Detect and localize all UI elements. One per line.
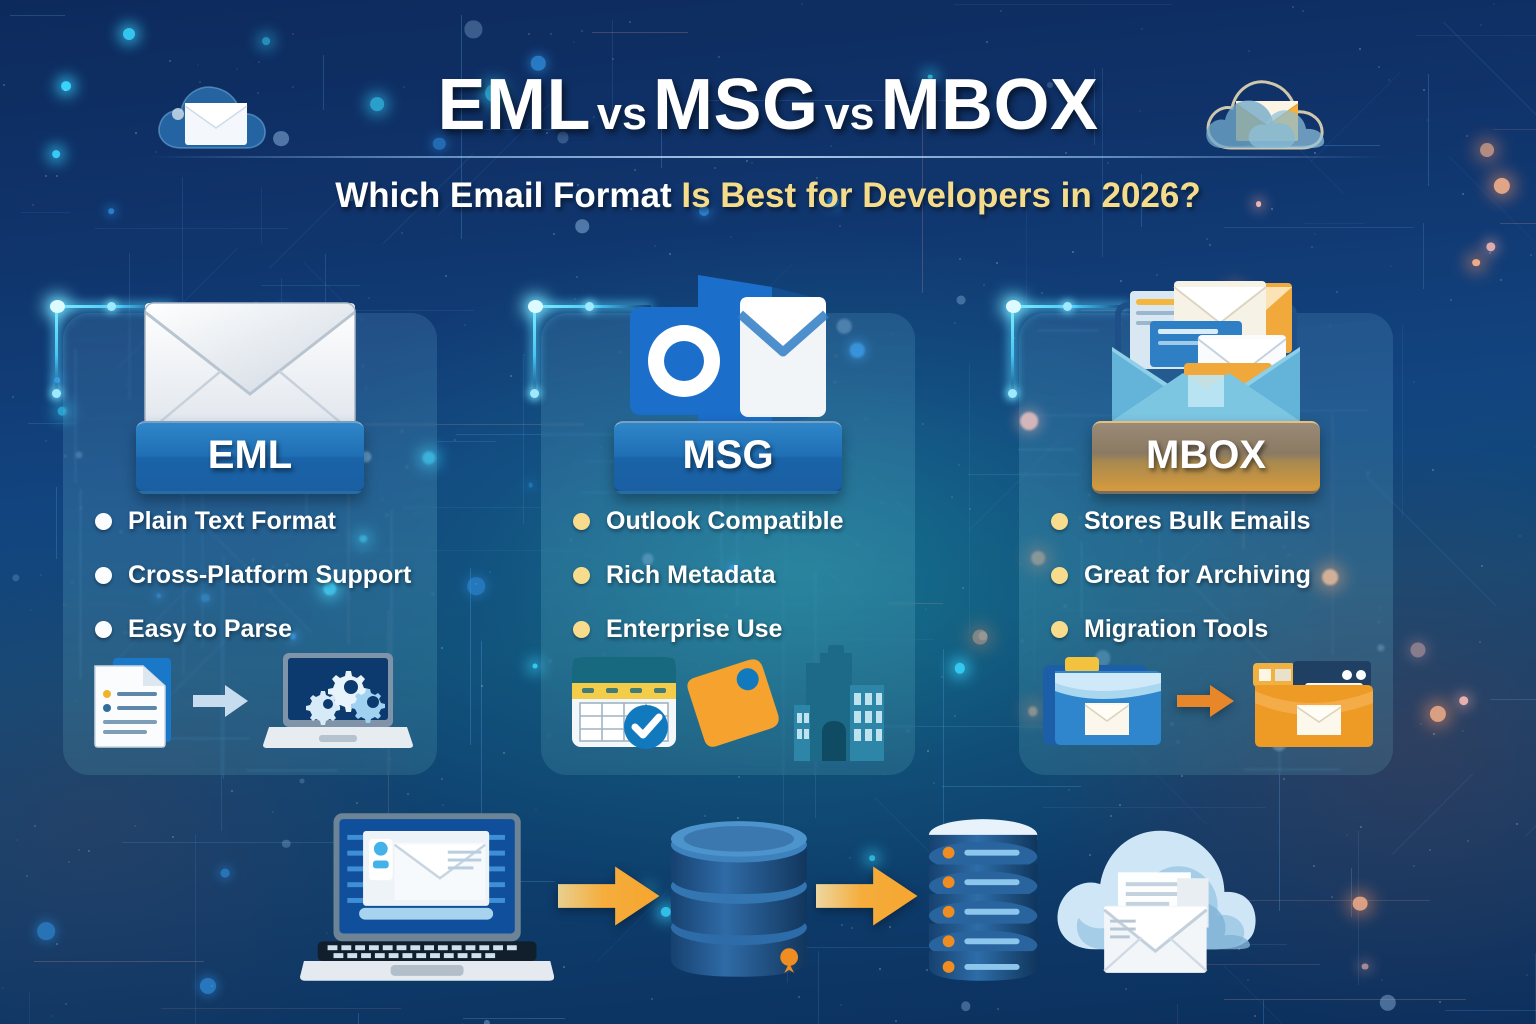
card-art-eml [63,265,437,445]
list-item: Plain Text Format [95,495,419,548]
subtitle-highlight-part: Is Best for Developers in 2026? [681,176,1200,215]
bullet-dot-icon [573,513,590,530]
mailbox-stack-icon [1088,269,1324,445]
arrow-right-orange-icon [558,864,660,928]
feature-label: Rich Metadata [606,561,775,590]
feature-label: Outlook Compatible [606,507,844,536]
card-art-msg [541,265,915,445]
blue-folder-mail-icon [1039,651,1163,751]
server-stack-icon [923,810,1043,982]
orange-folder-mail-icon [1249,651,1373,751]
format-card-mbox[interactable]: MBOX Stores Bulk Emails Great for Archiv… [1019,313,1393,775]
badge-eml: EML [136,421,364,494]
list-item: Rich Metadata [573,549,897,602]
outlook-logo-icon [622,267,834,445]
feature-list-msg: Outlook Compatible Rich Metadata Enterpr… [573,495,897,657]
bullet-dot-icon [95,567,112,584]
badge-msg: MSG [614,421,842,494]
feature-label: Easy to Parse [128,615,292,644]
cloud-envelope-icon [1047,808,1260,984]
title-msg: MSG [653,65,819,145]
list-item: Great for Archiving [1051,549,1375,602]
feature-label: Enterprise Use [606,615,782,644]
database-cylinder-icon [665,808,813,984]
format-card-eml[interactable]: EML Plain Text Format Cross-Platform Sup… [63,313,437,775]
arrow-right-orange-icon [816,864,918,928]
arrow-right-orange-icon [1177,684,1235,718]
laptop-email-icon [300,808,554,984]
office-building-icon [794,639,890,763]
calendar-check-icon [566,649,684,753]
feature-label: Stores Bulk Emails [1084,507,1310,536]
title-mbox: MBOX [881,65,1099,145]
title-vs-2: vs [819,88,881,139]
bullet-dot-icon [95,621,112,638]
cloud-email-orange-icon [1196,56,1336,168]
arrow-right-icon [193,684,249,718]
card-art-mbox [1019,265,1393,445]
card-footer-icons-eml [63,641,437,761]
list-item: Stores Bulk Emails [1051,495,1375,548]
document-icon [87,652,179,750]
badge-mbox: MBOX [1092,421,1320,494]
title-vs-1: vs [591,88,653,139]
page-subtitle: Which Email Format Is Best for Developer… [0,176,1536,216]
feature-label: Great for Archiving [1084,561,1311,590]
card-footer-icons-mbox [1019,641,1393,761]
feature-list-mbox: Stores Bulk Emails Great for Archiving M… [1051,495,1375,657]
infographic-canvas: EMLvsMSGvsMBOX Which Email Format Is Bes… [0,0,1536,1024]
bullet-dot-icon [573,567,590,584]
price-tag-icon [686,649,792,753]
format-card-msg[interactable]: MSG Outlook Compatible Rich Metadata Ent… [541,313,915,775]
bullet-dot-icon [1051,621,1068,638]
subtitle-white-part: Which Email Format [335,176,681,215]
list-item: Outlook Compatible [573,495,897,548]
bullet-dot-icon [1051,567,1068,584]
feature-label: Cross-Platform Support [128,561,411,590]
bullet-dot-icon [1051,513,1068,530]
feature-list-eml: Plain Text Format Cross-Platform Support… [95,495,419,657]
list-item: Cross-Platform Support [95,549,419,602]
conversion-pipeline [300,796,1260,996]
header: EMLvsMSGvsMBOX Which Email Format Is Bes… [0,0,1536,250]
card-footer-icons-msg [541,641,915,761]
bullet-dot-icon [573,621,590,638]
bullet-dot-icon [95,513,112,530]
laptop-gears-icon [263,649,413,753]
feature-label: Plain Text Format [128,507,336,536]
title-eml: EML [437,65,590,145]
feature-label: Migration Tools [1084,615,1268,644]
